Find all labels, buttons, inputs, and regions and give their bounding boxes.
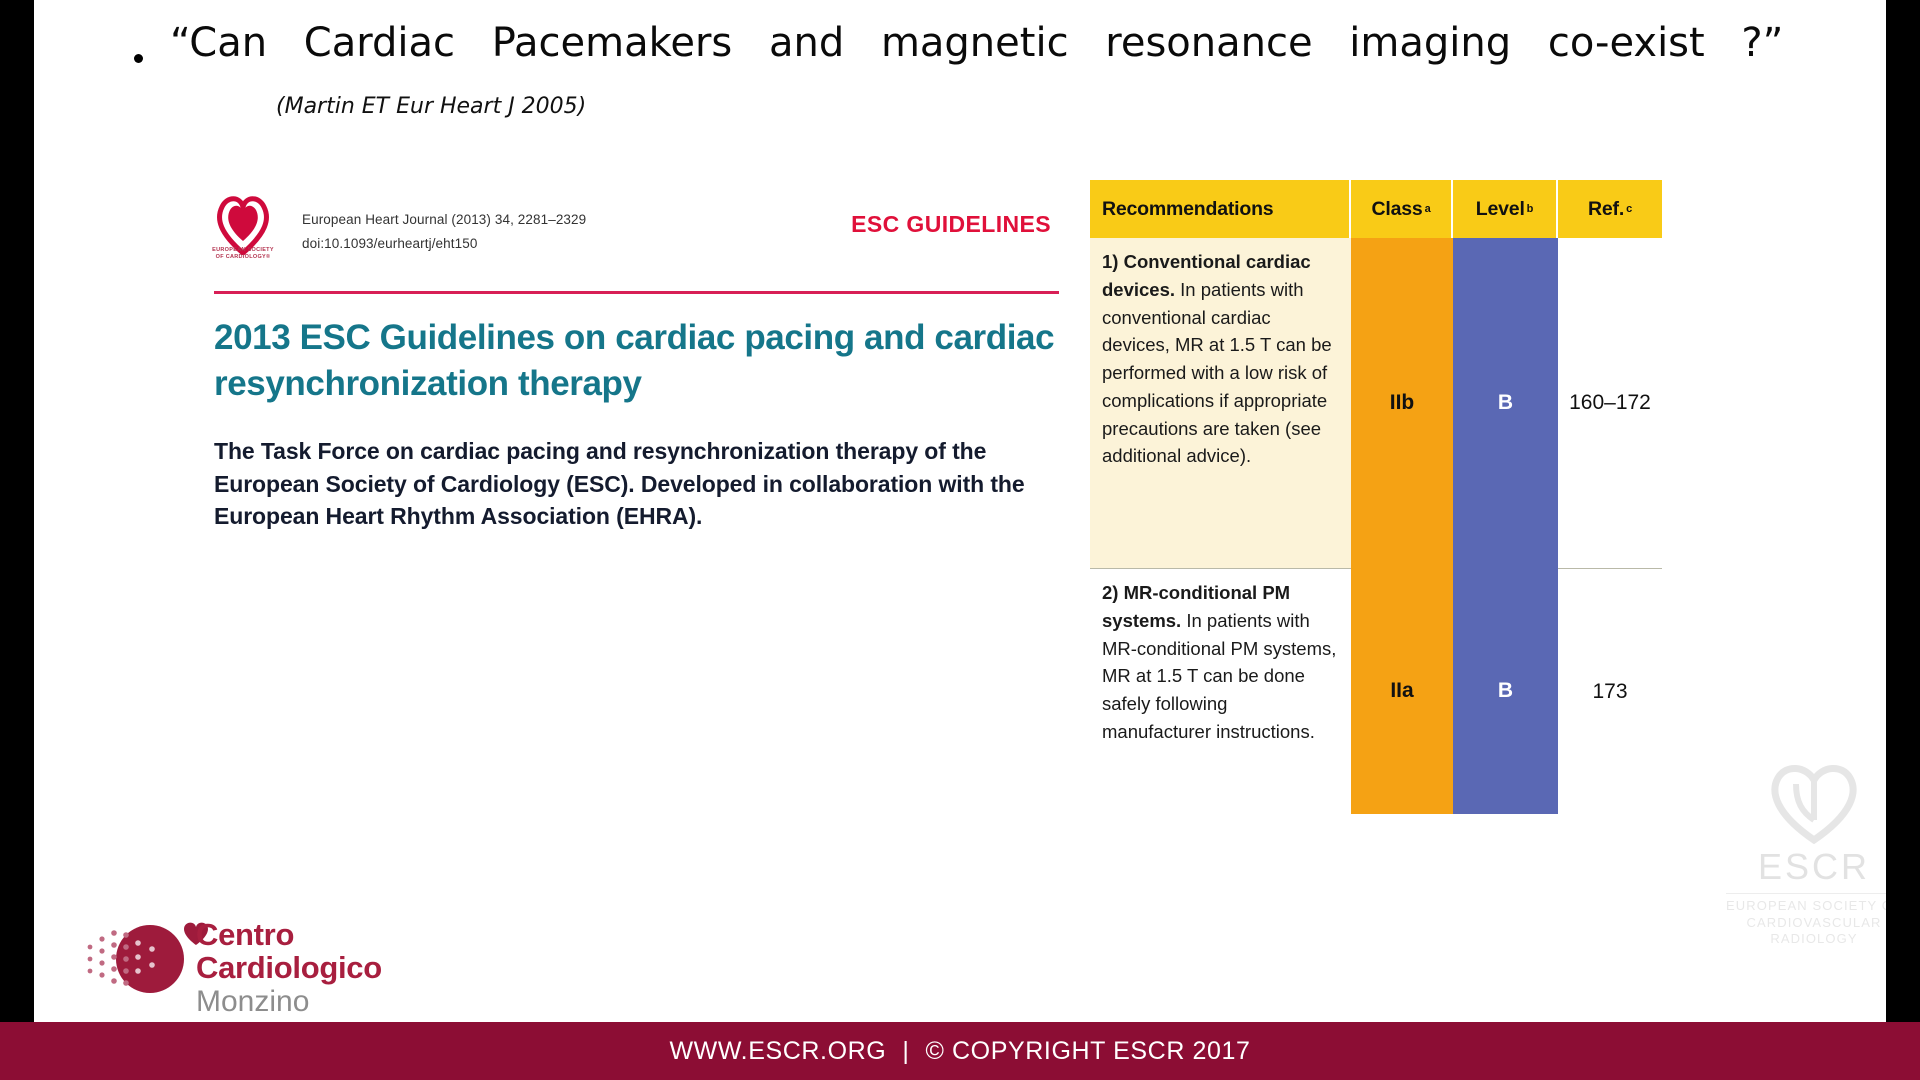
journal-article-panel: EUROPEAN SOCIETY OF CARDIOLOGY® European… [214, 185, 1059, 615]
esc-logo-caption: EUROPEAN SOCIETY OF CARDIOLOGY® [212, 247, 274, 261]
table-header-row: Recommendations Classa Levelb Ref.c [1090, 180, 1670, 238]
footer-website-link[interactable]: WWW.ESCR.ORG [669, 1037, 886, 1065]
header-sup-level: b [1527, 203, 1534, 215]
cell-ref-1: 160–172 [1558, 238, 1662, 568]
table-row: 1) Conventional cardiac devices. In pati… [1090, 238, 1670, 568]
journal-divider [214, 291, 1059, 294]
cell-class-2: IIa [1351, 568, 1453, 814]
footer-copyright: © COPYRIGHT ESCR 2017 [925, 1037, 1250, 1065]
cell-ref-2: 173 [1558, 568, 1662, 814]
monzino-line1: Centro Cardiologico [196, 919, 468, 984]
monzino-wordmark: Centro Cardiologico Monzino [196, 919, 468, 1018]
header-label-class: Class [1372, 198, 1423, 221]
cell-level-1: B [1453, 238, 1558, 568]
footer-bar: WWW.ESCR.ORG|© COPYRIGHT ESCR 2017 [0, 1022, 1920, 1080]
bullet-dot-icon [134, 54, 143, 63]
header-label-recommendations: Recommendations [1102, 198, 1273, 221]
column-header-class: Classa [1351, 180, 1453, 238]
header-sup-class: a [1425, 203, 1431, 215]
page-title: “Can Cardiac Pacemakers and magnetic res… [170, 16, 1810, 70]
header-label-ref: Ref. [1588, 198, 1624, 221]
escr-subtitle: EUROPEAN SOCIETY OF CARDIOVASCULAR RADIO… [1714, 898, 1886, 948]
journal-article-title: 2013 ESC Guidelines on cardiac pacing an… [214, 315, 1064, 406]
column-header-level: Levelb [1453, 180, 1558, 238]
escr-divider [1726, 893, 1886, 894]
column-header-recommendations: Recommendations [1090, 180, 1351, 238]
table-row: 2) MR-conditional PM systems. In patient… [1090, 568, 1670, 814]
footer-separator: | [902, 1037, 909, 1065]
header-sup-ref: c [1626, 203, 1632, 215]
cell-recommendation-1: 1) Conventional cardiac devices. In pati… [1090, 238, 1351, 568]
monzino-mark-icon [72, 913, 212, 999]
column-header-ref: Ref.c [1558, 180, 1662, 238]
bullet-citation: (Martin ET Eur Heart J 2005) [276, 94, 586, 119]
recommendation-1-text: In patients with conventional cardiac de… [1102, 279, 1332, 467]
escr-subtitle-line3: RADIOLOGY [1714, 931, 1886, 948]
escr-watermark: ESCR EUROPEAN SOCIETY OF CARDIOVASCULAR … [1714, 758, 1886, 948]
esc-guidelines-label: ESC GUIDELINES [851, 211, 1051, 238]
monzino-logo: Centro Cardiologico Monzino [48, 905, 468, 1005]
footer-content: WWW.ESCR.ORG|© COPYRIGHT ESCR 2017 [669, 1037, 1250, 1066]
journal-citation-line1: European Heart Journal (2013) 34, 2281–2… [302, 212, 586, 227]
journal-article-abstract: The Task Force on cardiac pacing and res… [214, 435, 1064, 533]
escr-wordmark: ESCR [1714, 846, 1886, 888]
journal-citation: European Heart Journal (2013) 34, 2281–2… [302, 208, 586, 255]
cell-level-2: B [1453, 568, 1558, 814]
header-label-level: Level [1476, 198, 1525, 221]
escr-subtitle-line2: CARDIOVASCULAR [1714, 915, 1886, 932]
cell-class-1: IIb [1351, 238, 1453, 568]
escr-heart-icon [1766, 758, 1862, 844]
slide-canvas: “Can Cardiac Pacemakers and magnetic res… [34, 0, 1886, 1022]
recommendations-table: Recommendations Classa Levelb Ref.c 1) C… [1090, 180, 1670, 814]
cell-recommendation-2: 2) MR-conditional PM systems. In patient… [1090, 568, 1351, 814]
journal-doi: doi:10.1093/eurheartj/eht150 [302, 236, 477, 251]
escr-subtitle-line1: EUROPEAN SOCIETY OF [1714, 898, 1886, 915]
monzino-line2: Monzino [196, 985, 468, 1018]
